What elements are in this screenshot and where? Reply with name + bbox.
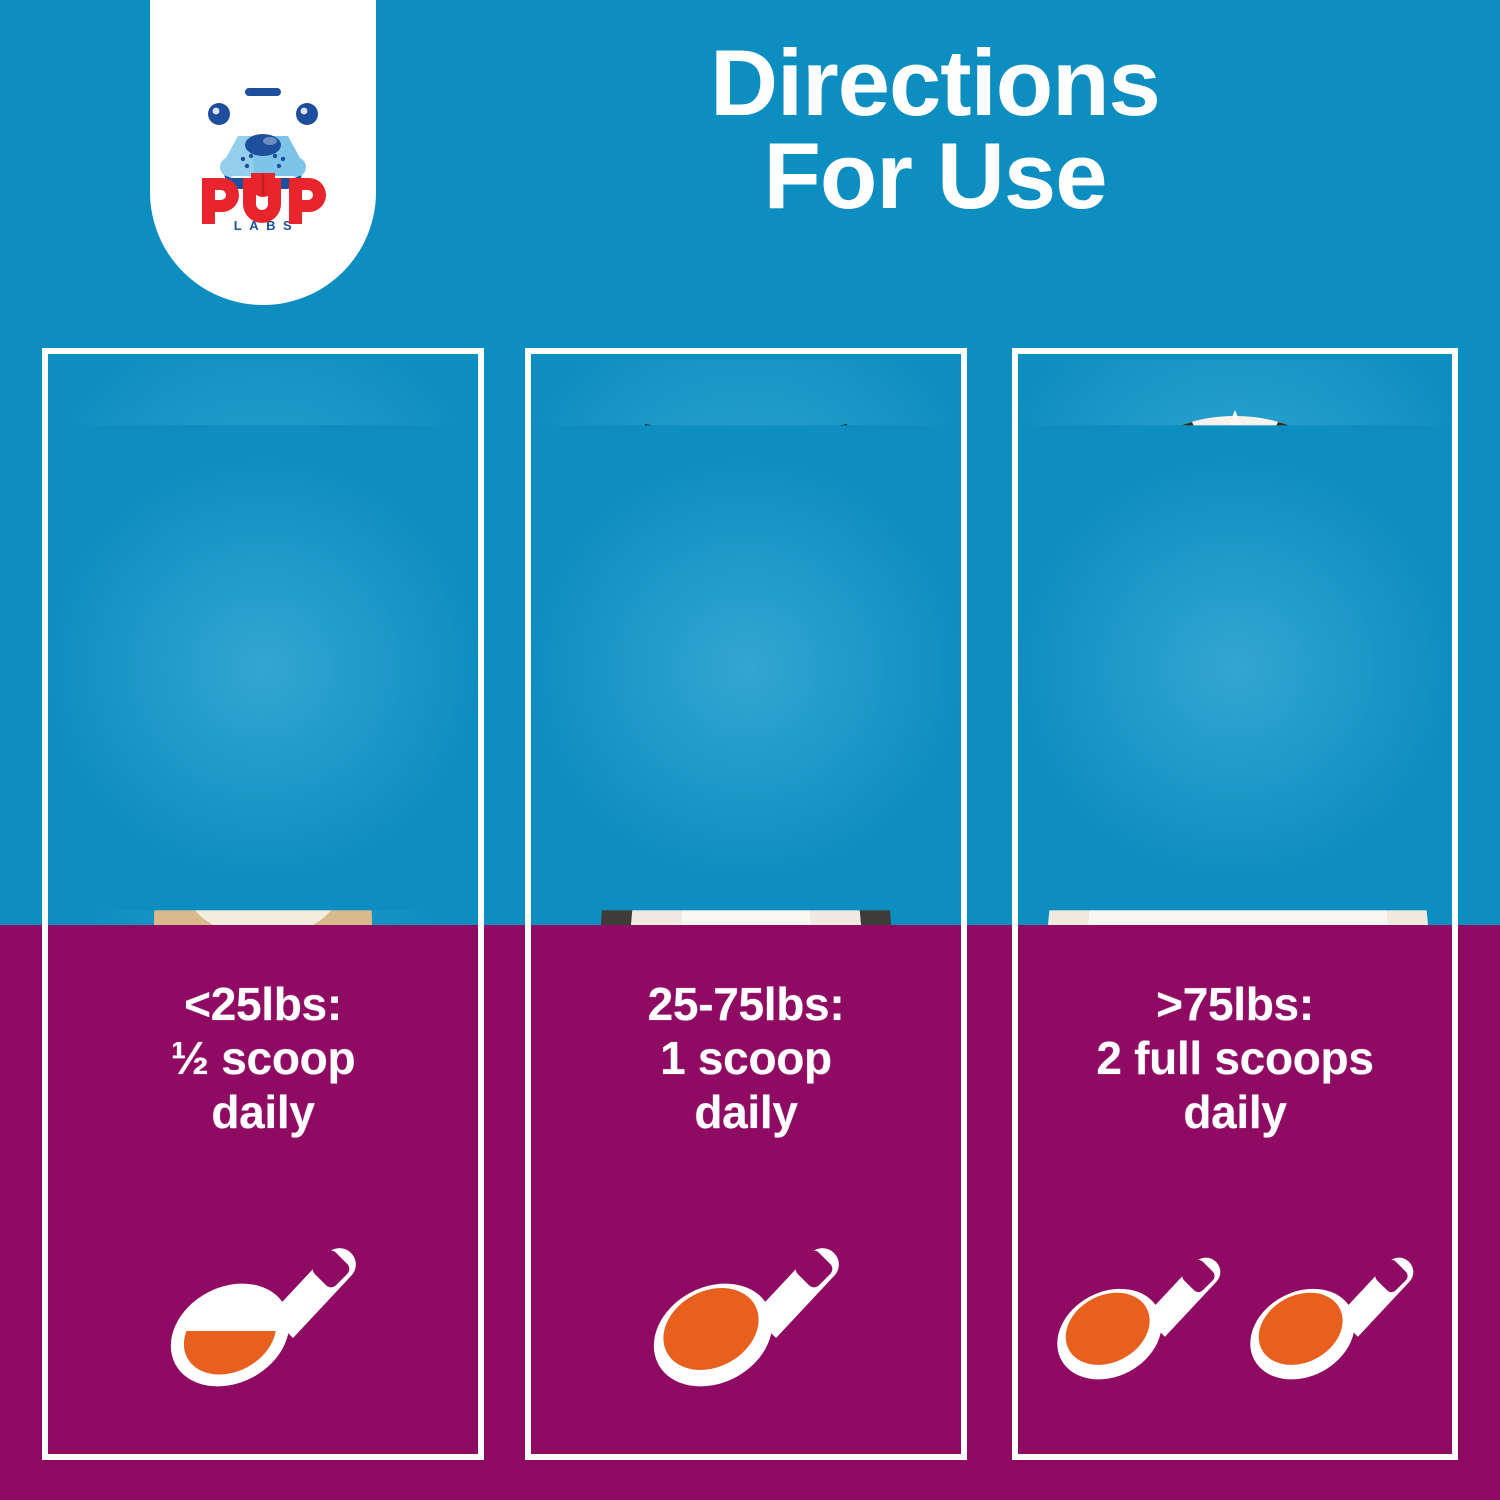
dosage-text-medium-dog: 25-75lbs: 1 scoop daily [644,978,849,1139]
measuring-scoop-full-icon [1239,1224,1424,1394]
french-bulldog-photo [48,354,478,925]
scoop-icons-medium-dog [531,1219,961,1394]
weight-range-label: <25lbs: [171,978,356,1032]
dosage-panel-medium-dog[interactable]: 25-75lbs: 1 scoop daily [525,348,967,1460]
panel-caption-large-dog: >75lbs: 2 full scoops daily [1018,925,1452,1454]
dosage-text-small-dog: <25lbs: ½ scoop daily [167,978,360,1139]
dose-line-2: daily [1096,1086,1373,1140]
dosage-panel-small-dog[interactable]: <25lbs: ½ scoop daily [42,348,484,1460]
saint-bernard-photo [1018,354,1452,925]
panel-caption-small-dog: <25lbs: ½ scoop daily [48,925,478,1454]
dose-line-2: daily [171,1086,356,1140]
measuring-scoop-full-icon [641,1219,851,1394]
siberian-husky-photo [531,354,961,925]
measuring-scoop-half-icon [158,1219,368,1394]
dose-line-1: ½ scoop [171,1032,356,1086]
scoop-icons-small-dog [48,1219,478,1394]
panel-caption-medium-dog: 25-75lbs: 1 scoop daily [531,925,961,1454]
dose-line-1: 1 scoop [648,1032,845,1086]
weight-range-label: 25-75lbs: [648,978,845,1032]
dosage-panels: <25lbs: ½ scoop daily [0,0,1500,1500]
dosage-panel-large-dog[interactable]: >75lbs: 2 full scoops daily [1012,348,1458,1460]
dose-line-1: 2 full scoops [1096,1032,1373,1086]
measuring-scoop-full-icon [1046,1224,1231,1394]
scoop-icons-large-dog [1018,1224,1452,1394]
dosage-text-large-dog: >75lbs: 2 full scoops daily [1092,978,1377,1139]
weight-range-label: >75lbs: [1096,978,1373,1032]
dose-line-2: daily [648,1086,845,1140]
